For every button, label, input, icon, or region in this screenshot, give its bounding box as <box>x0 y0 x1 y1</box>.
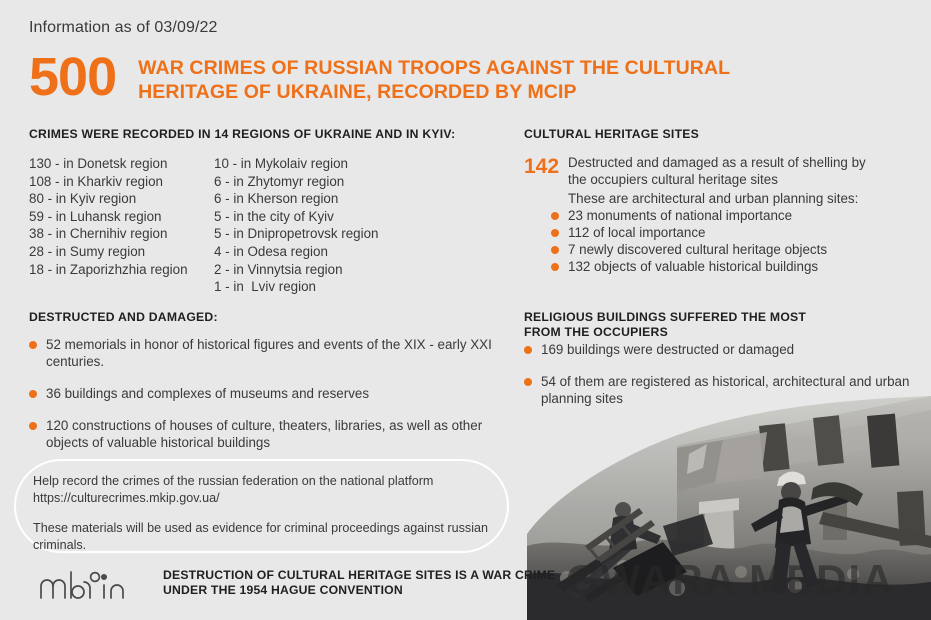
list-item: 59 - in Luhansk region <box>29 208 214 226</box>
regions-column-left: 130 - in Donetsk region 108 - in Kharkiv… <box>29 155 214 296</box>
list-item: 54 of them are registered as historical,… <box>524 373 924 407</box>
list-item: 2 - in Vinnytsia region <box>214 261 399 279</box>
cultural-heritage-heading: CULTURAL HERITAGE SITES <box>524 127 699 142</box>
list-item: 132 objects of valuable historical build… <box>551 258 881 275</box>
list-item: 120 constructions of houses of culture, … <box>29 417 514 451</box>
list-item: 1 - in Lviv region <box>214 278 399 296</box>
list-item: 23 monuments of national importance <box>551 207 881 224</box>
cultural-heritage-count: 142 <box>524 155 568 179</box>
religious-buildings-heading: RELIGIOUS BUILDINGS SUFFERED THE MOST FR… <box>524 310 806 340</box>
cultural-heritage-items: 23 monuments of national importance 112 … <box>551 207 881 275</box>
mkip-logo-svg <box>38 566 130 600</box>
list-item: 5 - in the city of Kyiv <box>214 208 399 226</box>
footer-line-1: DESTRUCTION OF CULTURAL HERITAGE SITES I… <box>163 568 555 584</box>
hero-count: 500 <box>29 52 116 102</box>
list-item: 36 buildings and complexes of museums an… <box>29 385 514 402</box>
religious-buildings-heading-line1: RELIGIOUS BUILDINGS SUFFERED THE MOST <box>524 310 806 325</box>
callout-paragraph-1[interactable]: Help record the crimes of the russian fe… <box>33 473 493 506</box>
callout-box: Help record the crimes of the russian fe… <box>14 459 509 553</box>
regions-column-right: 10 - in Mykolaiv region 6 - in Zhytomyr … <box>214 155 399 296</box>
list-item: 28 - in Sumy region <box>29 243 214 261</box>
infographic-page: GWARA MEDIA Information as of 03/09/22 5… <box>0 0 931 620</box>
list-item: 52 memorials in honor of historical figu… <box>29 336 514 370</box>
list-item: 5 - in Dnipropetrovsk region <box>214 225 399 243</box>
list-item: 7 newly discovered cultural heritage obj… <box>551 241 881 258</box>
callout-text: Help record the crimes of the russian fe… <box>33 473 493 553</box>
footer: DESTRUCTION OF CULTURAL HERITAGE SITES I… <box>38 566 555 600</box>
info-date: Information as of 03/09/22 <box>29 19 218 37</box>
callout-paragraph-2: These materials will be used as evidence… <box>33 520 493 553</box>
list-item: 112 of local importance <box>551 224 881 241</box>
mkip-logo-icon <box>38 566 130 600</box>
footer-line-2: UNDER THE 1954 HAGUE CONVENTION <box>163 583 555 599</box>
list-item: 4 - in Odesa region <box>214 243 399 261</box>
list-item: 38 - in Chernihiv region <box>29 225 214 243</box>
cultural-heritage-subheading: These are architectural and urban planni… <box>568 191 858 208</box>
footer-text: DESTRUCTION OF CULTURAL HERITAGE SITES I… <box>163 568 555 599</box>
list-item: 130 - in Donetsk region <box>29 155 214 173</box>
watermark-gwara-media: GWARA MEDIA <box>566 556 894 604</box>
list-item: 6 - in Kherson region <box>214 190 399 208</box>
list-item: 18 - in Zaporizhzhia region <box>29 261 214 279</box>
hero-title: WAR CRIMES OF RUSSIAN TROOPS AGAINST THE… <box>138 56 818 104</box>
regions-heading: CRIMES WERE RECORDED IN 14 REGIONS OF UK… <box>29 127 509 142</box>
list-item: 169 buildings were destructed or damaged <box>524 341 924 358</box>
destructed-damaged-items: 52 memorials in honor of historical figu… <box>29 336 514 466</box>
list-item: 6 - in Zhytomyr region <box>214 173 399 191</box>
regions-lists: 130 - in Donetsk region 108 - in Kharkiv… <box>29 155 399 296</box>
religious-buildings-items: 169 buildings were destructed or damaged… <box>524 341 924 422</box>
cultural-heritage-lead: Destructed and damaged as a result of sh… <box>568 155 868 188</box>
list-item: 80 - in Kyiv region <box>29 190 214 208</box>
religious-buildings-heading-line2: FROM THE OCCUPIERS <box>524 325 806 340</box>
hero-headline: 500 WAR CRIMES OF RUSSIAN TROOPS AGAINST… <box>29 52 818 104</box>
list-item: 10 - in Mykolaiv region <box>214 155 399 173</box>
destructed-damaged-heading: DESTRUCTED AND DAMAGED: <box>29 310 218 325</box>
cultural-heritage-count-row: 142 Destructed and damaged as a result o… <box>524 155 868 188</box>
list-item: 108 - in Kharkiv region <box>29 173 214 191</box>
